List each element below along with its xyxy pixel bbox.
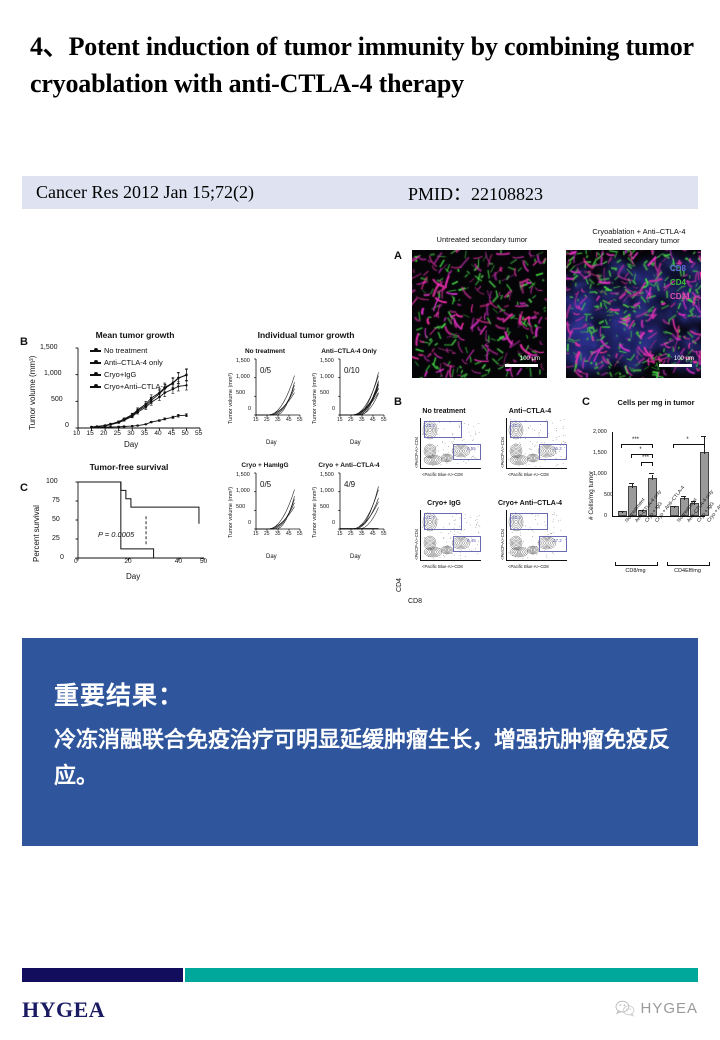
- if-right-title-line2: treated secondary tumor: [566, 237, 712, 246]
- x-tick: 55: [297, 417, 303, 423]
- y-tick: 0: [60, 554, 64, 561]
- x-tick: 50: [181, 430, 188, 437]
- flow-plot-title: Anti–CTLA-4: [490, 408, 570, 415]
- panel-letter-c-bars: C: [582, 396, 590, 408]
- flow-plot-title: Cryo+ Anti–CTLA-4: [490, 500, 570, 507]
- x-tick: 20: [100, 430, 107, 437]
- x-tick: 45: [168, 430, 175, 437]
- footer-logo-left: HYGEA: [22, 997, 105, 1023]
- x-tick: 15: [253, 417, 259, 423]
- x-tick: 40: [154, 430, 161, 437]
- flow-x-axis-tick-label: <Pacific Blue-A>-CD8: [508, 564, 549, 569]
- conclusion-box: 重要结果： 冷冻消融联合免疫治疗可明显延缓肿瘤生长，增强抗肿瘤免疫反应。: [22, 638, 698, 846]
- y-axis-label: Tumor volume (mm³): [228, 373, 234, 424]
- chart-title: Mean tumor growth: [60, 330, 210, 340]
- subplot-fraction: 0/10: [344, 366, 360, 375]
- panel-letter-b-flow: B: [394, 396, 402, 408]
- y-axis-label: Tumor volume (mm³): [28, 356, 37, 430]
- wechat-icon: [615, 1000, 635, 1017]
- y-tick: 1,500: [236, 472, 250, 478]
- chart-title: Cells per mg in tumor: [598, 398, 714, 407]
- scale-bar: [505, 364, 538, 367]
- slide-root: 4、Potent induction of tumor immunity by …: [0, 0, 720, 1040]
- y-tick: 1,000: [236, 488, 250, 494]
- error-bar: [632, 484, 633, 488]
- y-tick: 50: [52, 516, 60, 523]
- error-bar-cap: [629, 483, 634, 484]
- gate-lower-label: 26.2: [553, 446, 562, 451]
- group-bracket: [667, 562, 710, 566]
- footer-logo-right: HYGEA: [615, 1000, 698, 1017]
- x-tick: 50: [200, 558, 207, 565]
- x-tick: 15: [87, 430, 94, 437]
- chart-individual-tumor-growth: Individual tumor growth No treatmentTumo…: [226, 330, 386, 590]
- y-tick: 1,000: [320, 374, 334, 380]
- chart-cells-per-mg: C Cells per mg in tumor # Cells/mg tumor…: [582, 396, 714, 610]
- flow-y-axis-tick-label: <PerCP-A>-CD4: [500, 437, 505, 468]
- y-tick: 500: [236, 504, 245, 510]
- x-tick: 40: [175, 558, 182, 565]
- y-tick: 0: [248, 406, 251, 412]
- y-tick: 500: [236, 390, 245, 396]
- y-tick: 0: [65, 422, 69, 429]
- y-tick: 500: [51, 396, 63, 403]
- group-bracket: [615, 562, 658, 566]
- y-tick: 0: [332, 406, 335, 412]
- chart-mean-tumor-growth: B Mean tumor growth Tumor volume (mm³) D…: [20, 330, 220, 450]
- y-tick: 0: [332, 520, 335, 526]
- x-tick: 35: [359, 531, 365, 537]
- flow-plot-area: 32.226.2: [506, 418, 567, 469]
- x-tick: 25: [264, 531, 270, 537]
- subplot-title: Anti–CTLA-4 Only: [310, 348, 388, 355]
- subplot: Cryo + Anti–CTLA-4Tumor volume (mm³)Day1…: [310, 462, 388, 568]
- panel-letter-b: B: [20, 336, 28, 348]
- y-tick: 0: [248, 520, 251, 526]
- error-bar: [684, 497, 685, 500]
- flow-x-axis-tick-label: <Pacific Blue-A>-CD8: [508, 472, 549, 477]
- gate-upper-label: 21.7: [426, 515, 435, 520]
- y-axis-label: Tumor volume (mm³): [312, 487, 318, 538]
- gate-lower-label: 37.2: [553, 538, 562, 543]
- citation-bar: Cancer Res 2012 Jan 15;72(2) PMID：221088…: [22, 176, 698, 209]
- x-tick: 25: [114, 430, 121, 437]
- x-tick: 15: [337, 417, 343, 423]
- error-bar-cap: [681, 496, 686, 497]
- y-tick: 75: [52, 497, 60, 504]
- y-tick: 1,000: [236, 374, 250, 380]
- flow-plot-area: 46.237.2: [506, 510, 567, 561]
- x-tick: 35: [359, 417, 365, 423]
- subplot-title: Cryo + HamIgG: [226, 462, 304, 469]
- scale-bar-label: 100 μm: [520, 356, 540, 362]
- x-axis-label: Day: [350, 554, 361, 560]
- subplot-fraction: 4/9: [344, 480, 355, 489]
- flow-x-axis-label: CD8: [408, 598, 422, 605]
- x-tick: 45: [286, 417, 292, 423]
- group-label: CD4Eff/mg: [667, 568, 708, 574]
- significance-bracket: [641, 462, 653, 466]
- y-tick: 1,500: [40, 344, 58, 351]
- x-axis-label: Day: [350, 440, 361, 446]
- panel-letter-c: C: [20, 482, 28, 494]
- y-tick: 1,000: [320, 488, 334, 494]
- error-bar: [674, 507, 675, 509]
- subplot-title: Cryo + Anti–CTLA-4: [310, 462, 388, 469]
- scale-bar: [659, 364, 692, 367]
- x-tick: 35: [275, 417, 281, 423]
- pvalue-annotation: P = 0.0005: [98, 530, 134, 539]
- y-tick: 100: [46, 478, 58, 485]
- x-tick: 30: [127, 430, 134, 437]
- flow-x-axis-tick-label: <Pacific Blue-A>-CD8: [422, 472, 463, 477]
- x-tick: 45: [370, 531, 376, 537]
- chart-tumor-free-survival: C Tumor-free survival Percent survival D…: [20, 460, 220, 588]
- chart-plot-area: [70, 478, 210, 566]
- flow-y-axis-tick-label: <PerCP-A>-CD4: [414, 529, 419, 560]
- y-axis-label: Tumor volume (mm³): [312, 373, 318, 424]
- x-axis-label: Day: [266, 440, 277, 446]
- subplot: No treatmentTumor volume (mm³)Day1,5001,…: [226, 348, 304, 454]
- if-left-title: Untreated secondary tumor: [412, 236, 552, 245]
- x-tick: 45: [370, 417, 376, 423]
- x-tick: 15: [253, 531, 259, 537]
- error-bar-cap: [619, 511, 624, 512]
- y-axis-label: Tumor volume (mm³): [228, 487, 234, 538]
- x-tick: 45: [286, 531, 292, 537]
- marker-label-cd4: CD4: [670, 278, 686, 287]
- significance-bracket: [673, 444, 705, 448]
- scale-bar-label: 100 μm: [674, 356, 694, 362]
- gate-lower-label: 6.55: [467, 446, 476, 451]
- x-tick: 15: [337, 531, 343, 537]
- flow-y-axis-tick-label: <PerCP-A>-CD4: [500, 529, 505, 560]
- x-tick: 55: [297, 531, 303, 537]
- panel-letter-a: A: [394, 250, 402, 262]
- chart-title: Tumor-free survival: [54, 462, 204, 472]
- footer-accent-bar-teal: [185, 968, 698, 982]
- y-axis-label: Percent survival: [32, 505, 41, 562]
- flow-plot: Cryo+ IgG21.78.45<PerCP-A>-CD4<Pacific B…: [404, 500, 484, 574]
- significance-label: ***: [630, 437, 642, 443]
- panel-flow-cytometry: B No treatment25.26.55<PerCP-A>-CD4<Paci…: [394, 396, 576, 610]
- citation-pmid: PMID：22108823: [408, 180, 543, 206]
- y-tick: 25: [52, 535, 60, 542]
- group-label: CD8/mg: [615, 568, 656, 574]
- y-tick: 500: [320, 390, 329, 396]
- figure-region: B Mean tumor growth Tumor volume (mm³) D…: [8, 228, 712, 610]
- flow-plot-area: 21.78.45: [420, 510, 481, 561]
- significance-label: *: [635, 447, 647, 453]
- subplot: Cryo + HamIgGTumor volume (mm³)Day1,5001…: [226, 462, 304, 568]
- flow-plot-title: Cryo+ IgG: [404, 500, 484, 507]
- footer-logo-right-text: HYGEA: [640, 1000, 698, 1017]
- footer-accent-bar-navy: [22, 968, 183, 982]
- subplot-title: No treatment: [226, 348, 304, 355]
- x-tick: 35: [275, 531, 281, 537]
- flow-x-axis-tick-label: <Pacific Blue-A>-CD8: [422, 564, 463, 569]
- gate-upper-label: 46.2: [512, 515, 521, 520]
- x-tick: 25: [348, 417, 354, 423]
- subplot-fraction: 0/5: [260, 480, 271, 489]
- gate-upper-label: 32.2: [512, 423, 521, 428]
- x-axis-label: Day: [124, 440, 138, 449]
- y-tick: 500: [320, 504, 329, 510]
- subplot: Anti–CTLA-4 OnlyTumor volume (mm³)Day1,5…: [310, 348, 388, 454]
- x-tick: 55: [381, 417, 387, 423]
- flow-plot: Cryo+ Anti–CTLA-446.237.2<PerCP-A>-CD4<P…: [490, 500, 570, 574]
- error-bar-cap: [649, 473, 654, 474]
- x-tick: 55: [195, 430, 202, 437]
- y-tick: 1,000: [44, 370, 62, 377]
- x-tick: 35: [141, 430, 148, 437]
- chart-plot-area: [70, 344, 210, 440]
- conclusion-heading: 重要结果：: [54, 676, 184, 712]
- x-tick: 20: [124, 558, 131, 565]
- error-bar: [652, 475, 653, 480]
- flow-y-axis-tick-label: <PerCP-A>-CD4: [414, 437, 419, 468]
- significance-label: ***: [640, 455, 652, 461]
- significance-label: *: [682, 437, 694, 443]
- y-tick: 2,000: [593, 429, 607, 435]
- page-title: 4、Potent induction of tumor immunity by …: [30, 28, 698, 102]
- x-tick: 25: [264, 417, 270, 423]
- flow-plot: Anti–CTLA-432.226.2<PerCP-A>-CD4<Pacific…: [490, 408, 570, 482]
- panel-immunofluorescence: A Untreated secondary tumor Cryoablation…: [394, 228, 712, 388]
- x-tick: 55: [381, 531, 387, 537]
- x-axis-label: Day: [126, 572, 140, 581]
- flow-plot: No treatment25.26.55<PerCP-A>-CD4<Pacifi…: [404, 408, 484, 482]
- flow-plot-title: No treatment: [404, 408, 484, 415]
- y-axis-label: # Cells/mg tumor: [588, 471, 595, 520]
- flow-plot-area: 25.26.55: [420, 418, 481, 469]
- y-tick: 1,500: [320, 472, 334, 478]
- bar: [670, 506, 679, 516]
- error-bar: [622, 512, 623, 513]
- x-tick: 0: [74, 558, 78, 565]
- subplot-fraction: 0/5: [260, 366, 271, 375]
- marker-label-cd31: CD31: [670, 292, 690, 301]
- x-tick: 25: [348, 531, 354, 537]
- error-bar-cap: [701, 436, 706, 437]
- y-tick: 1,000: [593, 471, 607, 477]
- y-tick: 1,500: [236, 358, 250, 364]
- gate-lower-label: 8.45: [467, 538, 476, 543]
- conclusion-body: 冷冻消融联合免疫治疗可明显延缓肿瘤生长，增强抗肿瘤免疫反应。: [54, 723, 674, 795]
- y-tick: 1,500: [593, 450, 607, 456]
- y-tick: 0: [604, 513, 607, 519]
- marker-label-cd8: CD8: [670, 264, 686, 273]
- y-tick: 1,500: [320, 358, 334, 364]
- chart-title: Individual tumor growth: [226, 330, 386, 340]
- citation-journal: Cancer Res 2012 Jan 15;72(2): [36, 182, 254, 203]
- x-axis-label: Day: [266, 554, 277, 560]
- if-image-untreated: 100 μm: [412, 250, 547, 378]
- flow-y-axis-label: CD4: [396, 578, 403, 592]
- x-tick: 10: [73, 430, 80, 437]
- gate-upper-label: 25.2: [426, 423, 435, 428]
